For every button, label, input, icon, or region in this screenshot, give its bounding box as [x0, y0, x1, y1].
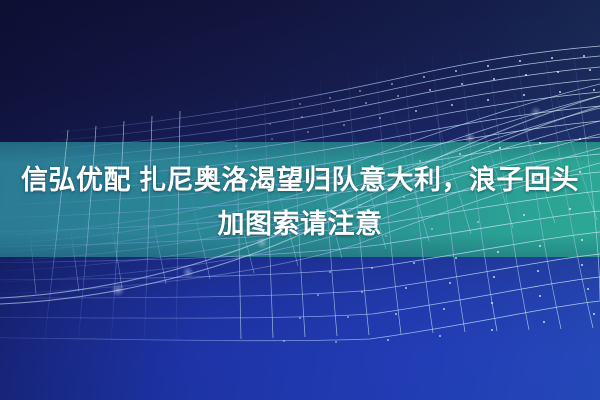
banner-graphic: 信弘优配 扎尼奥洛渴望归队意大利，浪子回头加图索请注意 [0, 0, 600, 400]
banner-headline: 信弘优配 扎尼奥洛渴望归队意大利，浪子回头加图索请注意 [0, 158, 600, 246]
